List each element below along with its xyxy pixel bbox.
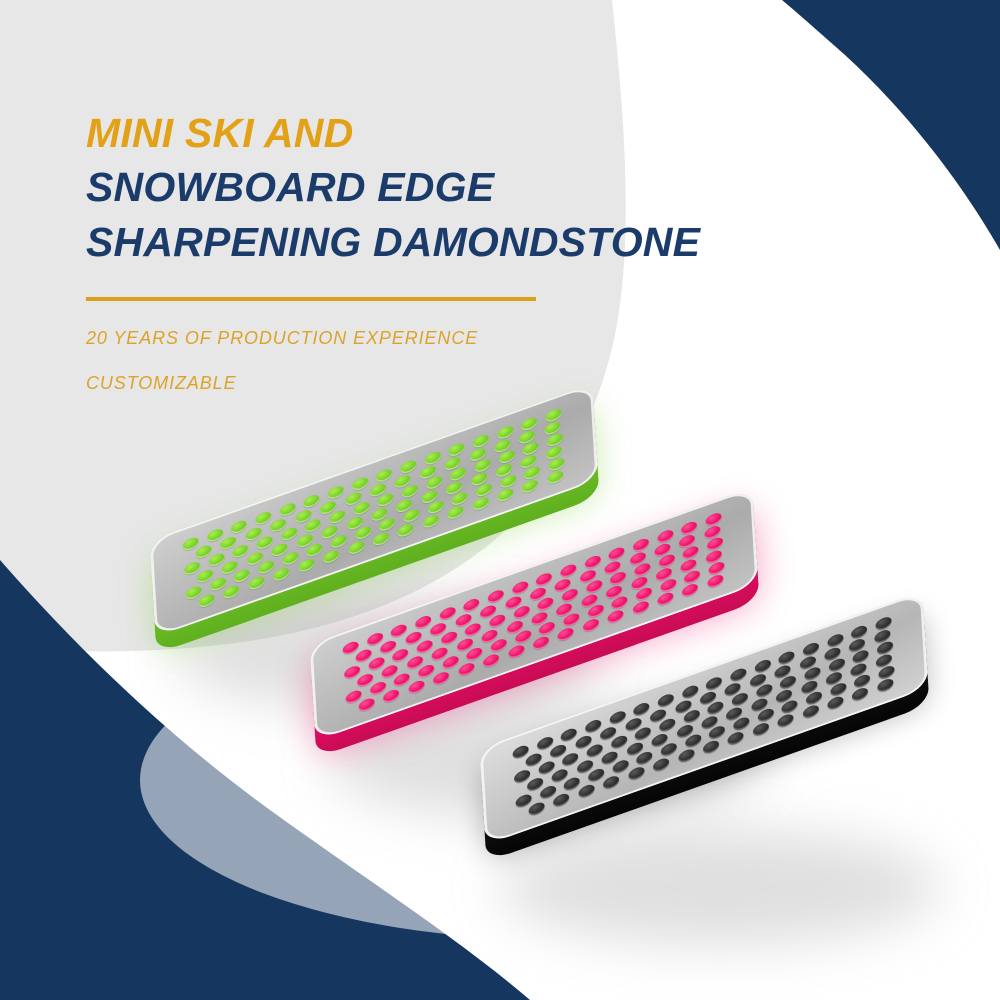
subheadline-line-1: 20 YEARS OF PRODUCTION EXPERIENCE: [86, 329, 846, 349]
black-stone-shadow: [500, 830, 940, 945]
headline-block: MINI SKI AND SNOWBOARD EDGE SHARPENING D…: [86, 112, 846, 394]
headline-line-1: MINI SKI AND: [86, 112, 846, 155]
headline-line-3: SHARPENING DAMONDSTONE: [86, 215, 846, 269]
subheadline-line-2: CUSTOMIZABLE: [86, 374, 846, 394]
black-sharpening-stone[interactable]: [470, 660, 940, 810]
headline-line-2: SNOWBOARD EDGE: [86, 160, 846, 214]
product-banner: MINI SKI AND SNOWBOARD EDGE SHARPENING D…: [0, 0, 1000, 1000]
gold-divider-rule: [86, 297, 536, 301]
